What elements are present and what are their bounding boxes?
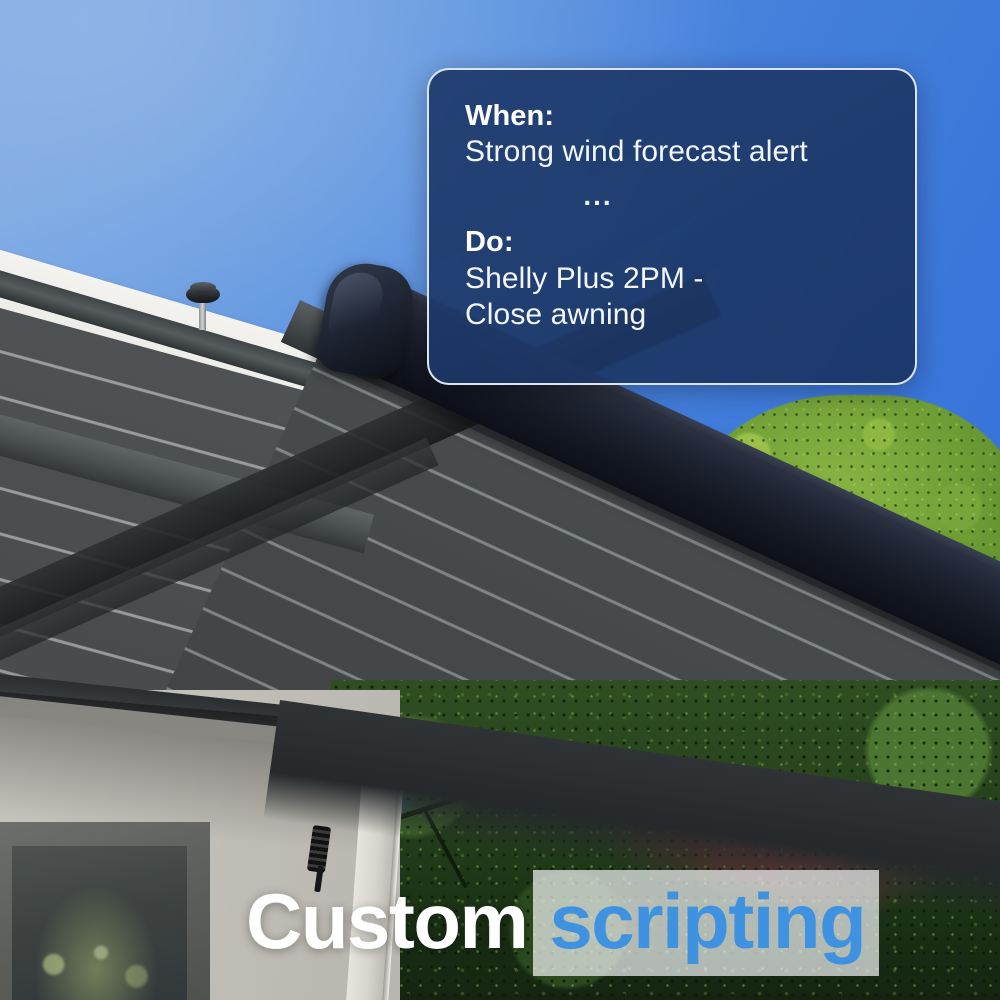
wordmark: Custom scripting xyxy=(246,870,879,976)
wordmark-accent: scripting xyxy=(533,870,879,976)
roof-vent-cap-top xyxy=(190,282,216,293)
rule-do-value: Shelly Plus 2PM - Close awning xyxy=(465,261,881,333)
rule-separator-ellipsis: ... xyxy=(465,182,881,210)
rule-when-value: Strong wind forecast alert xyxy=(465,134,881,170)
rule-do-block: Do: Shelly Plus 2PM - Close awning xyxy=(465,226,881,332)
automation-rule-card: When: Strong wind forecast alert ... Do:… xyxy=(427,68,917,385)
rule-do-label: Do: xyxy=(465,226,881,258)
rule-when-block: When: Strong wind forecast alert xyxy=(465,100,881,170)
wordmark-primary: Custom xyxy=(246,882,527,960)
rule-when-label: When: xyxy=(465,100,881,132)
promo-image: When: Strong wind forecast alert ... Do:… xyxy=(0,0,1000,1000)
roof-vent-pipe xyxy=(199,300,206,330)
window-reflection xyxy=(24,938,172,1000)
